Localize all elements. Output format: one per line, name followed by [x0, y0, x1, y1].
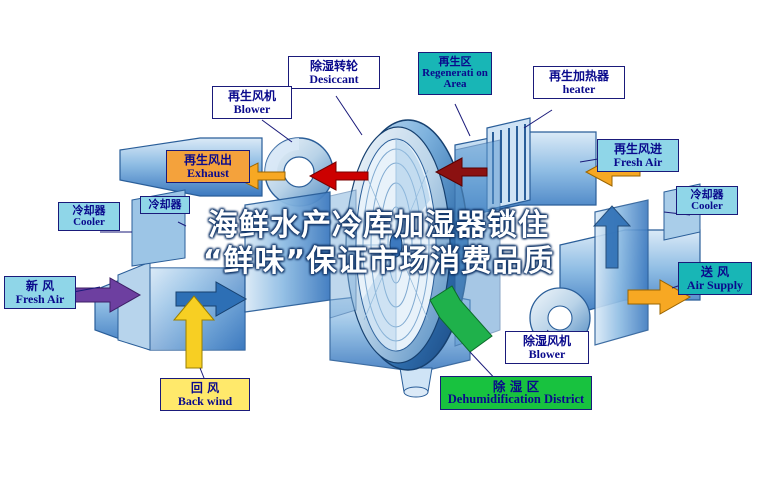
label-fresh-air-en: Fresh Air	[7, 293, 73, 306]
label-desiccant-wheel-en: Desiccant	[291, 73, 377, 86]
label-regeneration-blower-cn: 再生风机	[215, 90, 289, 103]
label-dehumidification-district: 除 湿 区 Dehumidification District	[440, 376, 592, 410]
label-exhaust-en: Exhaust	[169, 167, 247, 180]
label-regeneration-area-cn: 再生区	[421, 56, 489, 68]
overlay-title: 海鲜水产冷库加湿器锁住 “鲜味”保证市场消费品质	[0, 208, 757, 280]
label-cooler-right-cn: 冷却器	[679, 189, 735, 201]
label-regeneration-heater: 再生加热器 heater	[533, 66, 625, 99]
label-exhaust-cn: 再生风出	[169, 154, 247, 167]
label-dehumidify-blower-en: Blower	[508, 348, 586, 361]
label-desiccant-wheel-cn: 除湿转轮	[291, 60, 377, 73]
label-fresh-air-cn: 新 风	[7, 280, 73, 293]
label-back-wind-en: Back wind	[163, 395, 247, 408]
label-regeneration-heater-en: heater	[536, 83, 622, 96]
label-regeneration-fresh-air-cn: 再生风进	[600, 143, 676, 156]
overlay-title-line1: 海鲜水产冷库加湿器锁住	[0, 208, 757, 244]
label-regeneration-blower: 再生风机 Blower	[212, 86, 292, 119]
label-regeneration-area-en: Regenerati on Area	[421, 68, 489, 91]
label-dehumidify-blower: 除湿风机 Blower	[505, 331, 589, 364]
overlay-title-line2: “鲜味”保证市场消费品质	[0, 244, 757, 280]
label-dehumidify-blower-cn: 除湿风机	[508, 335, 586, 348]
label-fresh-air: 新 风 Fresh Air	[4, 276, 76, 309]
label-regeneration-blower-en: Blower	[215, 103, 289, 116]
label-regeneration-fresh-air: 再生风进 Fresh Air	[597, 139, 679, 172]
label-back-wind: 回 风 Back wind	[160, 378, 250, 411]
label-exhaust: 再生风出 Exhaust	[166, 150, 250, 183]
label-regeneration-fresh-air-en: Fresh Air	[600, 156, 676, 169]
label-air-supply-en: Air Supply	[681, 279, 749, 292]
label-dehumidification-district-en: Dehumidification District	[443, 393, 589, 406]
label-regeneration-area: 再生区 Regenerati on Area	[418, 52, 492, 95]
diagram-canvas: 除湿转轮 Desiccant 再生风机 Blower 再生区 Regenerat…	[0, 0, 757, 488]
label-desiccant-wheel: 除湿转轮 Desiccant	[288, 56, 380, 89]
label-back-wind-cn: 回 风	[163, 382, 247, 395]
label-regeneration-heater-cn: 再生加热器	[536, 70, 622, 83]
